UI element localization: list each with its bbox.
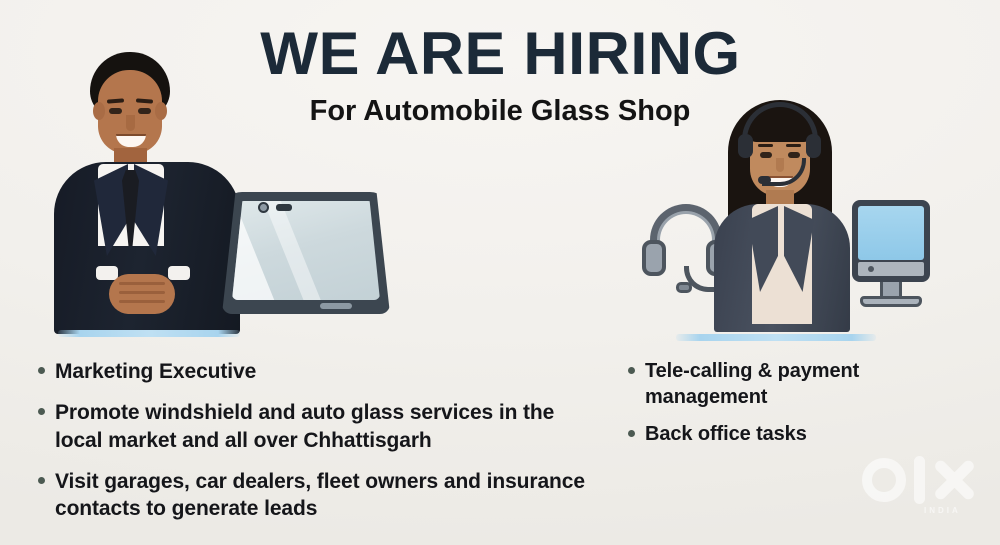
hiring-poster: WE ARE HIRING For Automobile Glass Shop <box>0 0 1000 545</box>
olx-watermark-logo: INDIA <box>862 452 980 520</box>
monitor-stand-base <box>860 296 922 307</box>
list-item: Back office tasks <box>628 421 928 447</box>
ground-bar-right <box>676 334 876 341</box>
man-in-suit-photo <box>48 52 248 334</box>
monitor-power-dot <box>868 266 874 272</box>
headset-mic-tip <box>676 282 692 293</box>
windshield-highlight-secondary <box>257 201 347 300</box>
windshield-camera-notch <box>276 204 292 211</box>
olx-letter-o-icon <box>862 458 906 502</box>
man-clasped-hands <box>109 274 175 314</box>
right-responsibility-list: Tele-calling & payment management Back o… <box>628 358 928 457</box>
man-ear-right <box>155 102 167 120</box>
list-item-label: Promote windshield and auto glass servic… <box>55 399 598 454</box>
bullet-dot-icon <box>38 477 45 484</box>
list-item-label: Tele-calling & payment management <box>645 358 928 411</box>
list-item-label: Visit garages, car dealers, fleet owners… <box>55 468 598 523</box>
olx-letter-l-icon <box>914 456 925 504</box>
headset-earcup-left <box>642 240 666 276</box>
woman-eyebrow-right <box>786 144 801 147</box>
man-eye-left <box>109 108 122 114</box>
windshield-glass <box>232 201 380 300</box>
windshield-rain-sensor <box>258 202 269 213</box>
woman-eyebrow-left <box>758 144 773 147</box>
ground-bar-left <box>58 330 240 337</box>
list-item-label: Marketing Executive <box>55 358 256 385</box>
bullet-dot-icon <box>628 367 635 374</box>
bullet-dot-icon <box>38 408 45 415</box>
woman-headset-earcup-right <box>806 134 821 158</box>
woman-headset-earcup-left <box>738 134 753 158</box>
man-eye-right <box>138 108 151 114</box>
woman-with-headset-photo <box>700 100 860 332</box>
bullet-dot-icon <box>38 367 45 374</box>
left-responsibility-list: Marketing Executive Promote windshield a… <box>38 358 598 536</box>
list-item: Tele-calling & payment management <box>628 358 928 411</box>
list-item: Promote windshield and auto glass servic… <box>38 399 598 454</box>
monitor-screen <box>858 206 924 260</box>
olx-letter-x-icon <box>932 458 976 502</box>
car-windshield-icon <box>222 192 390 314</box>
bullet-dot-icon <box>628 430 635 437</box>
woman-headset-mic-tip <box>758 176 771 184</box>
list-item: Visit garages, car dealers, fleet owners… <box>38 468 598 523</box>
list-item: Marketing Executive <box>38 358 598 385</box>
headline-text: WE ARE HIRING <box>260 24 740 84</box>
list-item-label: Back office tasks <box>645 421 807 447</box>
man-nose <box>126 115 135 131</box>
desktop-monitor-icon <box>852 200 944 318</box>
olx-region-label: INDIA <box>924 506 961 515</box>
windshield-bottom-badge <box>320 303 352 309</box>
man-cuff-left <box>96 266 118 280</box>
man-cuff-right <box>168 266 190 280</box>
man-ear-left <box>93 102 105 120</box>
